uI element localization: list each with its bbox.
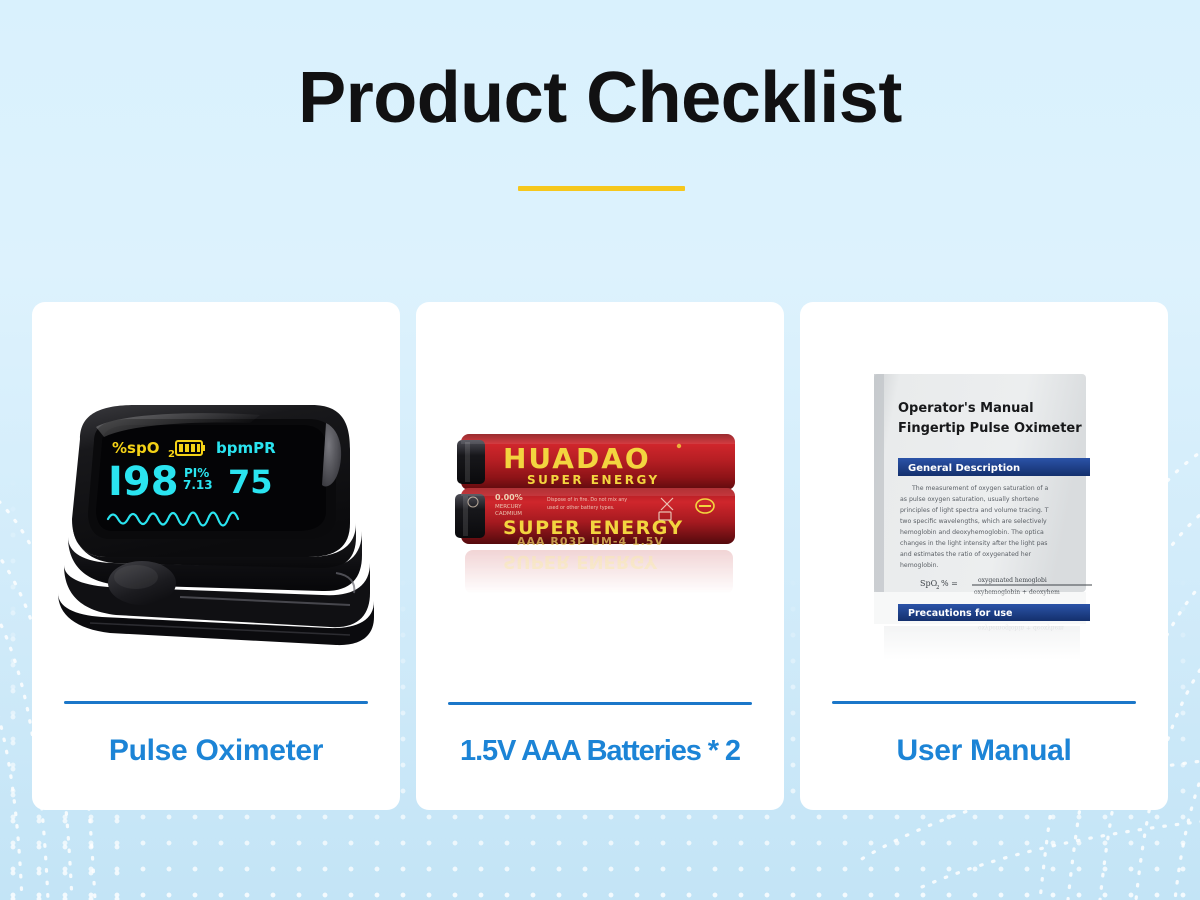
svg-text:Dispose of in fire. Do not mix: Dispose of in fire. Do not mix any	[547, 497, 627, 503]
svg-text:hemoglobin and deoxyhemoglobin: hemoglobin and deoxyhemoglobin. The opti…	[900, 529, 1044, 536]
product-checklist-page: Product Checklist	[0, 0, 1200, 900]
svg-text:Operator's Manual: Operator's Manual	[898, 401, 1034, 416]
svg-text:The measurement of oxygen satu: The measurement of oxygen saturation of …	[911, 485, 1049, 492]
user-manual-illustration: Operator's Manual Fingertip Pulse Oximet…	[860, 370, 1095, 660]
svg-text:2: 2	[936, 585, 940, 591]
svg-text:hemoglobin.: hemoglobin.	[900, 562, 939, 569]
oled-screen: %spO 2 bpmPR	[96, 425, 326, 531]
product-image-pulse-oximeter: %spO 2 bpmPR	[32, 302, 400, 701]
svg-text:as pulse oxygen saturation, us: as pulse oxygen saturation, usually shor…	[900, 496, 1039, 503]
svg-text:and estimates the ratio of oxy: and estimates the ratio of oxygenated he…	[900, 551, 1032, 558]
page-title: Product Checklist	[0, 62, 1200, 134]
product-image-user-manual: Operator's Manual Fingertip Pulse Oximet…	[800, 302, 1168, 701]
svg-text:AAA R03P UM-4 1.5V: AAA R03P UM-4 1.5V	[517, 535, 664, 548]
card-label-pulse-oximeter: Pulse Oximeter	[109, 734, 323, 768]
svg-text:HUADAO: HUADAO	[503, 442, 651, 475]
svg-text:7.13: 7.13	[183, 478, 213, 492]
checklist-card-aaa-batteries[interactable]: HUADAO SUPER ENERGY 0.00% M	[416, 302, 784, 810]
pulse-oximeter-illustration: %spO 2 bpmPR	[50, 397, 380, 647]
svg-text:two specific wavelengths, whic: two specific wavelengths, which are sele…	[900, 518, 1047, 525]
card-divider-pulse-oximeter	[64, 701, 368, 704]
card-label-aaa-batteries: 1.5V AAA Batteries * 2	[460, 735, 740, 768]
svg-text:%spO: %spO	[112, 439, 159, 457]
svg-text:% =: % =	[941, 579, 958, 588]
svg-text:SUPER ENERGY: SUPER ENERGY	[527, 473, 660, 487]
svg-text:SUPER ENERGY: SUPER ENERGY	[503, 551, 658, 572]
svg-text:oxyhemoglobin + deoxyhem: oxyhemoglobin + deoxyhem	[978, 624, 1064, 631]
svg-text:SpO: SpO	[920, 579, 938, 588]
product-image-aaa-batteries: HUADAO SUPER ENERGY 0.00% M	[416, 302, 784, 702]
svg-text:General Description: General Description	[908, 463, 1020, 474]
card-divider-aaa-batteries	[448, 702, 752, 705]
svg-text:oxygenated hemoglobi: oxygenated hemoglobi	[978, 577, 1047, 584]
svg-text:Precautions for use: Precautions for use	[908, 608, 1012, 619]
title-underline-rule	[518, 186, 685, 191]
checklist-card-user-manual[interactable]: Operator's Manual Fingertip Pulse Oximet…	[800, 302, 1168, 810]
svg-text:principles of light spectra an: principles of light spectra and volume t…	[900, 507, 1049, 514]
card-divider-user-manual	[832, 701, 1136, 704]
svg-text:bpmPR: bpmPR	[216, 439, 276, 457]
svg-text:changes in the light intensity: changes in the light intensity after the…	[900, 540, 1048, 547]
card-label-user-manual: User Manual	[896, 734, 1071, 768]
aaa-batteries-illustration: HUADAO SUPER ENERGY 0.00% M	[443, 422, 753, 637]
svg-text:used or other battery types.: used or other battery types.	[547, 505, 615, 511]
svg-text:Fingertip Pulse Oximeter: Fingertip Pulse Oximeter	[898, 421, 1082, 436]
svg-text:I98: I98	[108, 459, 179, 505]
checklist-card-row: %spO 2 bpmPR	[32, 302, 1168, 810]
checklist-card-pulse-oximeter[interactable]: %spO 2 bpmPR	[32, 302, 400, 810]
svg-text:SpO % =: SpO % =	[926, 612, 953, 619]
svg-text:MERCURY: MERCURY	[495, 504, 522, 510]
svg-text:75: 75	[228, 463, 273, 501]
